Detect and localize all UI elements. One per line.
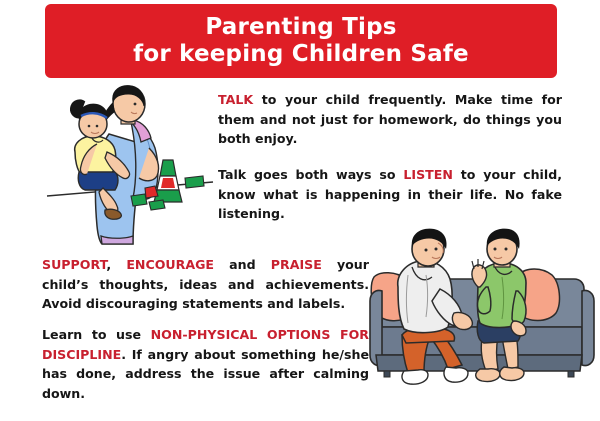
illustration-father-and-son: [368, 231, 596, 399]
keyword-listen: LISTEN: [403, 167, 453, 182]
poster-title-line-2: for keeping Children Safe: [133, 42, 469, 67]
tip-text-discipline-pre: Learn to use: [42, 327, 151, 342]
tip-paragraph-listen: Talk goes both ways so LISTEN to your ch…: [218, 165, 562, 224]
tip-text-support-sep2: and: [214, 257, 271, 272]
keyword-talk: TALK: [218, 92, 253, 107]
keyword-encourage: ENCOURAGE: [126, 257, 214, 272]
tip-paragraph-discipline: Learn to use NON-PHYSICAL OPTIONS FOR DI…: [42, 325, 369, 403]
tip-paragraph-support: SUPPORT, ENCOURAGE and PRAISE your child…: [42, 255, 369, 314]
tip-paragraph-talk: TALK to your child frequently. Make time…: [218, 90, 562, 149]
illustration-mother-and-child: [45, 86, 215, 246]
header-banner: Parenting Tips for keeping Children Safe: [45, 4, 557, 78]
keyword-praise: PRAISE: [271, 257, 322, 272]
infographic-poster: Parenting Tips for keeping Children Safe: [0, 0, 600, 421]
tip-text-support-sep1: ,: [106, 257, 126, 272]
tip-text-listen-pre: Talk goes both ways so: [218, 167, 403, 182]
tip-text-talk: to your child frequently. Make time for …: [218, 92, 562, 146]
keyword-support: SUPPORT: [42, 257, 106, 272]
poster-title-line-1: Parenting Tips: [205, 15, 396, 40]
